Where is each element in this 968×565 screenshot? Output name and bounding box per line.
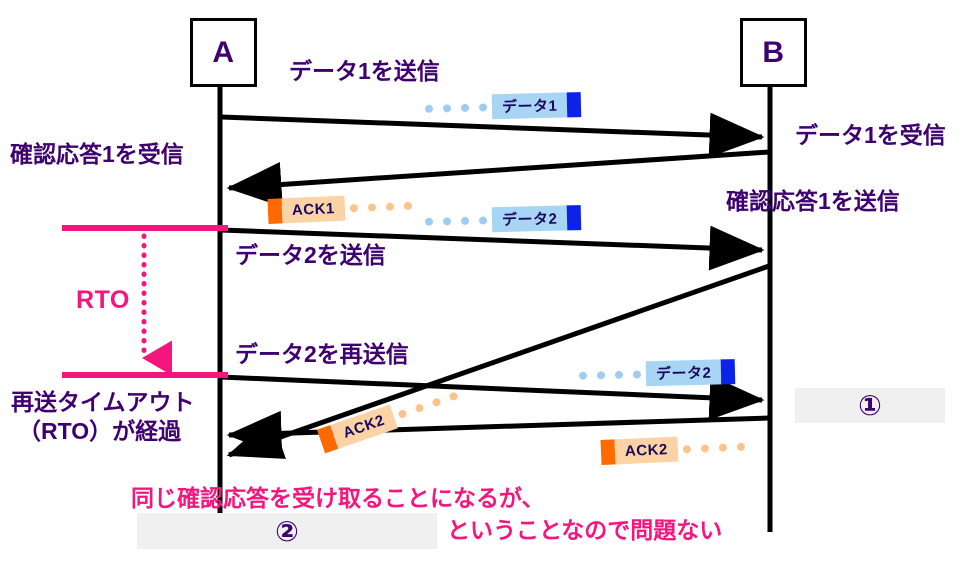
node-a[interactable]: A: [190, 18, 257, 87]
packet-data1-dots: [420, 103, 492, 113]
packet-data2-resent[interactable]: データ2: [574, 359, 736, 388]
label-rto-elapsed-line2: （RTO）が経過: [18, 418, 181, 445]
bottom-note-line2: ということなので問題ない: [447, 517, 722, 544]
node-b-label: B: [762, 36, 784, 70]
label-resend-data2: データ2を再送信: [235, 341, 409, 368]
packet-ack2-lower-cap: [600, 439, 615, 465]
diagram-vector-layer: [0, 0, 968, 565]
packet-ack1-dots: [345, 201, 417, 212]
arrow-ack1: [229, 152, 769, 188]
packet-data1[interactable]: データ1: [420, 92, 582, 121]
label-send-data2: データ2を送信: [235, 242, 386, 269]
packet-data2-label: データ2: [492, 205, 568, 232]
node-b[interactable]: B: [740, 18, 807, 87]
packet-ack2-lower-label: ACK2: [614, 437, 678, 465]
label-rto-elapsed-line1: 再送タイムアウト: [11, 389, 195, 416]
packet-data1-cap: [567, 92, 582, 117]
marker-two[interactable]: ②: [137, 513, 437, 549]
packet-data2-dots: [420, 216, 492, 226]
packet-data2-resent-label: データ2: [646, 359, 722, 386]
marker-one[interactable]: ①: [795, 388, 945, 423]
packet-data1-label: データ1: [492, 92, 568, 119]
packet-data2[interactable]: データ2: [420, 205, 582, 234]
packet-data2-cap: [567, 205, 582, 230]
label-recv-data1: データ1を受信: [795, 122, 946, 149]
packet-ack2-lower-dots: [678, 442, 750, 453]
node-a-label: A: [212, 36, 234, 70]
bottom-note-line1: 同じ確認応答を受け取ることになるが、: [131, 485, 545, 512]
sequence-diagram-canvas: A B データ1を送信 データ1を受信 確認応答1を受信 確認応答1を送信 デー…: [0, 0, 968, 565]
marker-one-label: ①: [858, 389, 882, 422]
packet-data2-resent-dots: [574, 370, 646, 380]
packet-data2-resent-cap: [721, 359, 736, 384]
marker-two-label: ②: [275, 515, 299, 548]
label-send-ack1: 確認応答1を送信: [726, 188, 900, 215]
packet-ack1-label: ACK1: [281, 196, 345, 224]
packet-ack1-cap: [267, 198, 282, 224]
label-rto: RTO: [76, 286, 130, 316]
label-ack1-received: 確認応答1を受信: [10, 141, 184, 168]
arrow-data1: [221, 117, 762, 137]
label-send-data1: データ1を送信: [289, 58, 440, 85]
